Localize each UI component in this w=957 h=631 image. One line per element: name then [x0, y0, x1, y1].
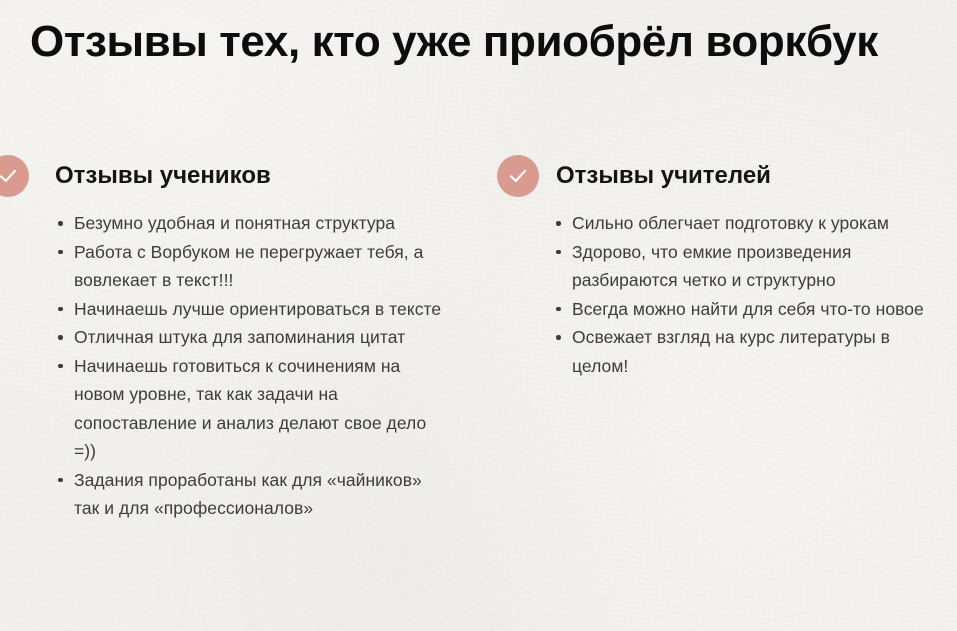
review-item-text: Всегда можно найти для себя что-то новое	[572, 299, 924, 319]
review-item: Здорово, что емкие произведения разбираю…	[550, 238, 948, 295]
review-item-text: Начинаешь лучше ориентироваться в тексте	[74, 299, 441, 319]
review-item: Начинаешь лучше ориентироваться в тексте	[52, 295, 452, 324]
review-list-teachers: Сильно облегчает подготовку к урокам Здо…	[550, 209, 948, 380]
column-title-students: Отзывы учеников	[29, 155, 271, 197]
column-header-teachers: Отзывы учителей	[497, 155, 947, 201]
review-item: Работа с Ворбуком не перегружает тебя, а…	[52, 238, 452, 295]
review-item-text: Сильно облегчает подготовку к урокам	[572, 213, 889, 233]
bullet-dot-icon	[58, 335, 63, 340]
review-item: Отличная штука для запоминания цитат	[52, 323, 452, 352]
review-item: Освежает взгляд на курс литературы в цел…	[550, 323, 948, 380]
reviews-column-students: Отзывы учеников Безумно удобная и понятн…	[0, 155, 470, 523]
review-list-students: Безумно удобная и понятная структура Раб…	[52, 209, 452, 523]
check-circle-icon	[497, 155, 539, 197]
review-item: Всегда можно найти для себя что-то новое	[550, 295, 948, 324]
review-item: Задания проработаны как для «чайников» т…	[52, 466, 452, 523]
review-item: Безумно удобная и понятная структура	[52, 209, 452, 238]
review-item-text: Безумно удобная и понятная структура	[74, 213, 395, 233]
reviews-page: Отзывы тех, кто уже приобрёл воркбук Отз…	[0, 0, 957, 631]
bullet-dot-icon	[556, 221, 561, 226]
column-title-teachers: Отзывы учителей	[539, 155, 771, 197]
review-item-text: Работа с Ворбуком не перегружает тебя, а…	[74, 242, 423, 291]
review-item-text: Отличная штука для запоминания цитат	[74, 327, 405, 347]
bullet-dot-icon	[58, 478, 63, 483]
column-header-students: Отзывы учеников	[0, 155, 470, 201]
review-item: Начинаешь готовиться к сочинениям на нов…	[52, 352, 452, 466]
bullet-dot-icon	[556, 335, 561, 340]
bullet-dot-icon	[58, 250, 63, 255]
review-item-text: Здорово, что емкие произведения разбираю…	[572, 242, 851, 291]
reviews-column-teachers: Отзывы учителей Сильно облегчает подгото…	[497, 155, 947, 380]
review-item-text: Задания проработаны как для «чайников» т…	[74, 470, 422, 519]
page-title: Отзывы тех, кто уже приобрёл воркбук	[30, 14, 940, 70]
bullet-dot-icon	[58, 364, 63, 369]
review-item-text: Освежает взгляд на курс литературы в цел…	[572, 327, 890, 376]
bullet-dot-icon	[556, 250, 561, 255]
bullet-dot-icon	[58, 221, 63, 226]
check-circle-icon	[0, 155, 29, 197]
bullet-dot-icon	[556, 307, 561, 312]
bullet-dot-icon	[58, 307, 63, 312]
review-item-text: Начинаешь готовиться к сочинениям на нов…	[74, 356, 426, 462]
review-item: Сильно облегчает подготовку к урокам	[550, 209, 948, 238]
